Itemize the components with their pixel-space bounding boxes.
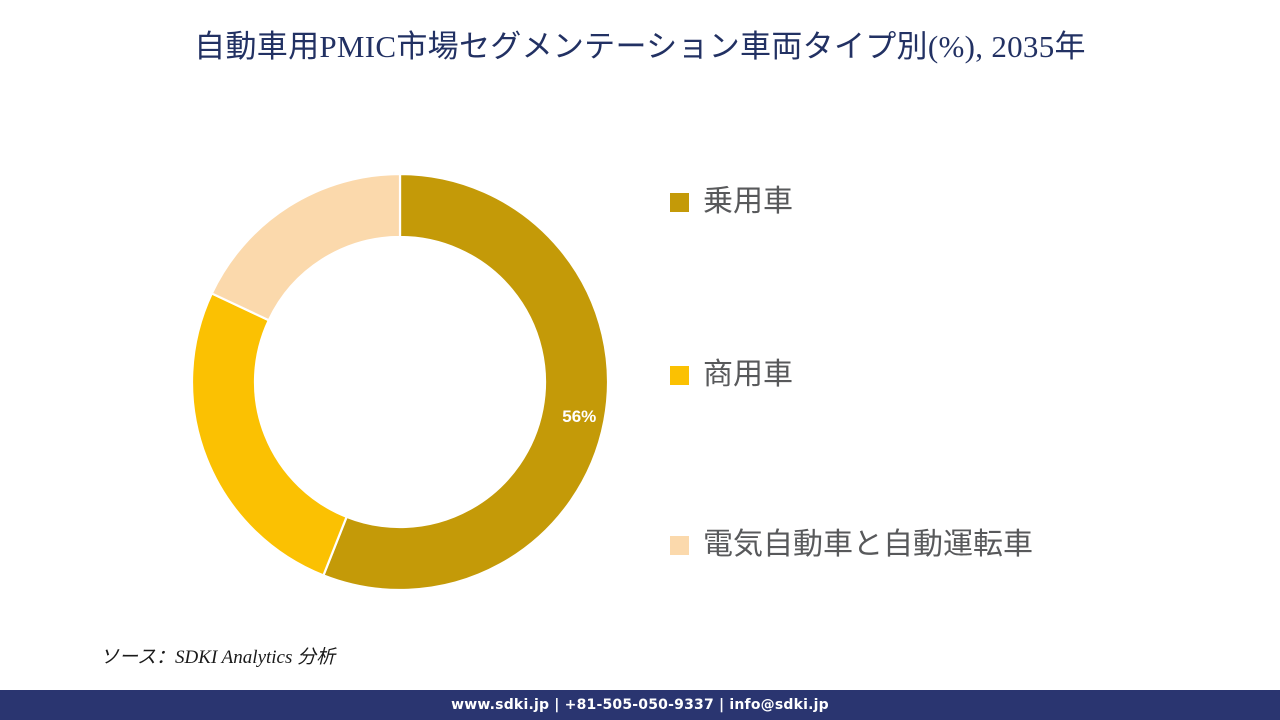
legend-item-electric-autonomous-vehicle[interactable]: 電気自動車と自動運転車: [670, 528, 1033, 562]
donut-chart: 56%: [150, 132, 650, 632]
donut-slice-label: 56%: [562, 407, 596, 426]
footer-bar: www.sdki.jp | +81-505-050-9337 | info@sd…: [0, 690, 1280, 720]
donut-label-group: 56%: [562, 407, 596, 426]
legend-swatch-icon: [670, 536, 689, 555]
legend-item-passenger-vehicle[interactable]: 乗用車: [670, 185, 793, 219]
legend-item-label: 商用車: [703, 358, 793, 392]
legend-swatch-icon: [670, 366, 689, 385]
legend-item-commercial-vehicle[interactable]: 商用車: [670, 358, 793, 392]
donut-slice-group: [192, 174, 608, 590]
legend-item-label: 電気自動車と自動運転車: [703, 528, 1033, 562]
chart-legend: 乗用車 商用車 電気自動車と自動運転車: [670, 175, 1230, 595]
legend-swatch-icon: [670, 193, 689, 212]
footer-contact-text: www.sdki.jp | +81-505-050-9337 | info@sd…: [451, 697, 829, 713]
page-title: 自動車用PMIC市場セグメンテーション車両タイプ別(%), 2035年: [0, 26, 1280, 68]
donut-slice[interactable]: [212, 174, 400, 320]
donut-chart-svg: 56%: [150, 132, 650, 632]
slide-canvas: 自動車用PMIC市場セグメンテーション車両タイプ別(%), 2035年 56% …: [0, 0, 1280, 720]
legend-item-label: 乗用車: [703, 185, 793, 219]
source-note: ソース：SDKI Analytics 分析: [100, 642, 335, 669]
donut-slice[interactable]: [192, 293, 347, 575]
